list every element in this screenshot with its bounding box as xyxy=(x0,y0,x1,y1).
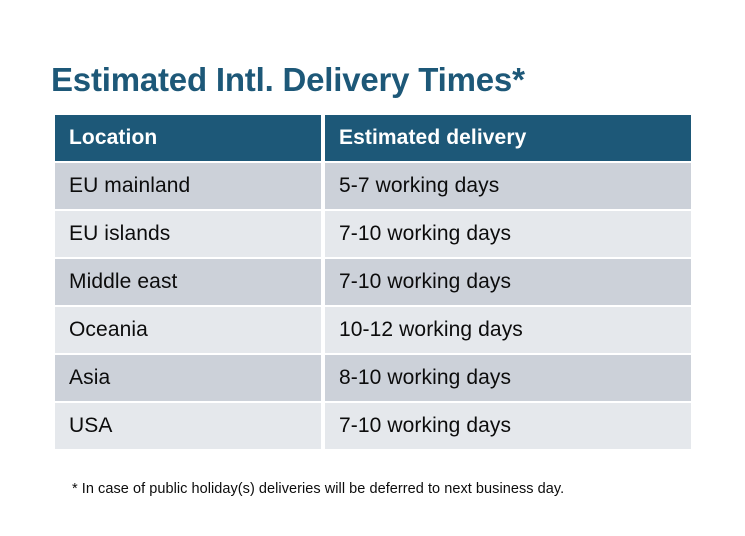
column-header-location: Location xyxy=(55,115,321,161)
cell-estimated-delivery: 7-10 working days xyxy=(325,211,691,257)
table-row: EU islands 7-10 working days xyxy=(55,211,691,257)
table-row: Middle east 7-10 working days xyxy=(55,259,691,305)
table-row: EU mainland 5-7 working days xyxy=(55,163,691,209)
estimated-delivery-table: Location Estimated delivery EU mainland … xyxy=(51,113,695,451)
cell-location: EU islands xyxy=(55,211,321,257)
cell-location: Oceania xyxy=(55,307,321,353)
cell-estimated-delivery: 8-10 working days xyxy=(325,355,691,401)
table-row: USA 7-10 working days xyxy=(55,403,691,449)
cell-location: EU mainland xyxy=(55,163,321,209)
cell-location: Asia xyxy=(55,355,321,401)
cell-estimated-delivery: 10-12 working days xyxy=(325,307,691,353)
cell-estimated-delivery: 7-10 working days xyxy=(325,403,691,449)
cell-estimated-delivery: 5-7 working days xyxy=(325,163,691,209)
cell-estimated-delivery: 7-10 working days xyxy=(325,259,691,305)
cell-location: USA xyxy=(55,403,321,449)
column-header-estimated-delivery: Estimated delivery xyxy=(325,115,691,161)
page-title: Estimated Intl. Delivery Times* xyxy=(51,58,525,102)
footnote: * In case of public holiday(s) deliverie… xyxy=(72,481,564,497)
table-row: Asia 8-10 working days xyxy=(55,355,691,401)
table-header-row: Location Estimated delivery xyxy=(55,115,691,161)
delivery-times-document: Estimated Intl. Delivery Times* Location… xyxy=(0,0,745,536)
cell-location: Middle east xyxy=(55,259,321,305)
table-row: Oceania 10-12 working days xyxy=(55,307,691,353)
